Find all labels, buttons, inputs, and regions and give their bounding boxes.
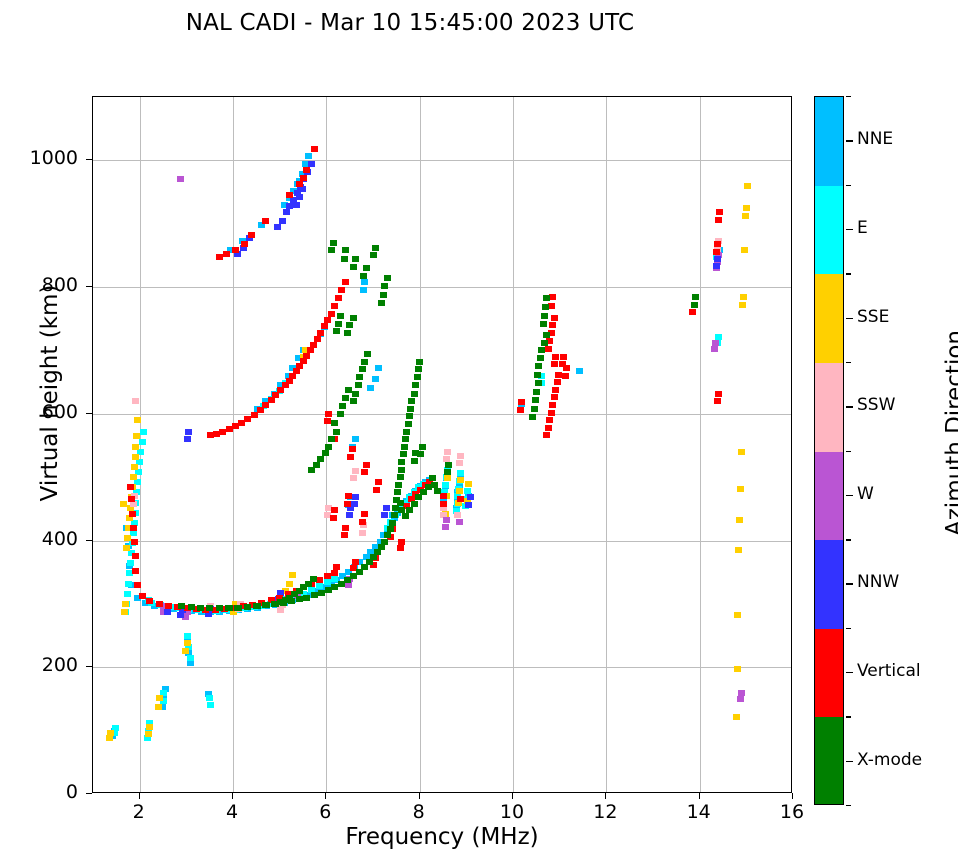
colorbar-tick	[846, 583, 853, 584]
data-point	[397, 474, 404, 480]
data-point	[308, 467, 315, 473]
data-point	[534, 372, 541, 378]
data-point	[560, 354, 567, 360]
data-point	[691, 302, 698, 308]
data-point	[395, 482, 402, 488]
y-axis-tick	[86, 159, 92, 160]
data-point	[531, 406, 538, 412]
data-point	[322, 450, 329, 456]
data-point	[414, 374, 421, 380]
y-axis-tick	[86, 793, 92, 794]
colorbar-tick	[846, 229, 853, 230]
x-axis-tick	[232, 793, 233, 799]
data-point	[381, 283, 388, 289]
data-point	[541, 340, 548, 346]
data-point	[406, 413, 413, 419]
data-point	[529, 414, 536, 420]
data-point	[739, 302, 746, 308]
x-axis-tick	[325, 793, 326, 799]
data-point	[401, 444, 408, 450]
data-point	[546, 417, 553, 423]
data-point	[406, 507, 413, 513]
data-point	[411, 501, 418, 507]
data-point	[338, 581, 345, 587]
data-point	[324, 573, 331, 579]
data-point	[274, 224, 281, 230]
data-point	[360, 273, 367, 279]
data-point	[457, 477, 464, 483]
data-point	[389, 520, 396, 526]
data-point	[535, 363, 542, 369]
colorbar-boundary-tick	[846, 539, 851, 540]
data-point	[122, 601, 129, 607]
data-point	[316, 583, 323, 589]
data-point	[743, 205, 750, 211]
data-point	[562, 373, 569, 379]
data-point	[178, 603, 185, 609]
colorbar-boundary-tick	[846, 805, 851, 806]
data-point	[262, 218, 269, 224]
data-point	[402, 436, 409, 442]
colorbar-boundary-tick	[846, 628, 851, 629]
data-point	[712, 340, 719, 346]
data-point	[440, 501, 447, 507]
data-point	[232, 247, 239, 253]
data-point	[711, 346, 718, 352]
data-point	[361, 511, 368, 517]
data-point	[350, 398, 357, 404]
colorbar-segment-w	[815, 452, 843, 541]
data-point	[197, 605, 204, 611]
data-point	[402, 513, 409, 519]
data-point	[351, 501, 358, 507]
data-point	[352, 256, 359, 262]
data-point	[293, 202, 300, 208]
data-point	[331, 584, 338, 590]
data-point	[289, 572, 296, 578]
data-point	[182, 648, 189, 654]
data-point	[352, 391, 359, 397]
data-point	[146, 724, 153, 730]
data-point	[238, 420, 245, 426]
data-point	[541, 313, 548, 319]
x-axis-tick	[792, 793, 793, 799]
data-point	[380, 292, 387, 298]
x-axis-title: Frequency (MHz)	[92, 824, 792, 850]
data-point	[716, 209, 723, 215]
data-point	[216, 254, 223, 260]
data-point	[737, 696, 744, 702]
y-axis-tick	[86, 413, 92, 414]
colorbar-tick	[846, 406, 853, 407]
data-point	[324, 418, 331, 424]
data-point	[207, 432, 214, 438]
data-point	[381, 512, 388, 518]
data-point	[359, 530, 366, 536]
data-point	[363, 462, 370, 468]
data-point	[331, 507, 338, 513]
data-point	[538, 347, 545, 353]
data-point	[429, 475, 436, 481]
data-point	[543, 295, 550, 301]
data-point	[356, 374, 363, 380]
data-point	[398, 507, 405, 513]
data-point	[134, 582, 141, 588]
colorbar-boundary-tick	[846, 362, 851, 363]
data-point	[456, 488, 463, 494]
data-point	[408, 398, 415, 404]
colorbar-tick	[846, 495, 853, 496]
colorbar-label-w: W	[857, 484, 874, 504]
colorbar-segment-vertical	[815, 629, 843, 718]
data-point	[184, 640, 191, 646]
data-point	[552, 354, 559, 360]
data-point	[341, 256, 348, 262]
data-point	[342, 247, 349, 253]
colorbar-title: Azimuth Direction	[942, 268, 958, 598]
data-point	[344, 577, 351, 583]
data-point	[225, 605, 232, 611]
data-point	[127, 484, 134, 490]
data-point	[333, 564, 340, 570]
data-point	[342, 525, 349, 531]
data-point	[713, 249, 720, 255]
data-point	[394, 489, 401, 495]
data-point	[325, 587, 332, 593]
data-point	[387, 526, 394, 532]
data-point	[185, 429, 192, 435]
data-point	[403, 429, 410, 435]
data-point	[128, 496, 135, 502]
data-point	[244, 416, 251, 422]
data-point	[355, 382, 362, 388]
data-point	[457, 496, 464, 502]
plot-area	[92, 96, 792, 793]
data-point	[405, 421, 412, 427]
data-point	[350, 573, 357, 579]
data-point	[346, 512, 353, 518]
data-point	[391, 512, 398, 518]
data-point	[549, 402, 556, 408]
data-point	[133, 433, 140, 439]
data-point	[398, 467, 405, 473]
data-point	[123, 545, 130, 551]
data-point	[715, 391, 722, 397]
data-point	[232, 423, 239, 429]
data-point	[540, 321, 547, 327]
data-point	[206, 695, 213, 701]
data-point	[335, 295, 342, 301]
data-point	[713, 263, 720, 269]
x-axis-tick-label: 8	[389, 801, 449, 823]
data-point	[350, 264, 357, 270]
data-point	[303, 167, 310, 173]
data-point	[741, 247, 748, 253]
data-point	[419, 444, 426, 450]
data-point	[300, 175, 307, 181]
colorbar-segment-nne	[815, 97, 843, 186]
data-point	[445, 462, 452, 468]
data-point	[738, 690, 745, 696]
data-point	[303, 595, 310, 601]
data-point	[545, 425, 552, 431]
data-point	[129, 511, 136, 517]
data-point	[316, 577, 323, 583]
data-point	[184, 633, 191, 639]
colorbar-label-sse: SSE	[857, 307, 889, 327]
data-point	[364, 351, 371, 357]
colorbar-boundary-tick	[846, 185, 851, 186]
data-point	[127, 560, 134, 566]
data-point	[363, 265, 370, 271]
data-point	[352, 436, 359, 442]
data-point	[551, 361, 558, 367]
data-point	[456, 519, 463, 525]
colorbar-boundary-tick	[846, 451, 851, 452]
data-point	[715, 217, 722, 223]
data-point	[398, 459, 405, 465]
data-point	[308, 161, 315, 167]
x-axis-tick-label: 4	[202, 801, 262, 823]
data-point	[457, 453, 464, 459]
colorbar-segment-e	[815, 186, 843, 275]
data-point	[132, 454, 139, 460]
data-point	[188, 604, 195, 610]
data-point	[131, 539, 138, 545]
data-point	[296, 181, 303, 187]
y-axis-tick-label: 0	[8, 781, 78, 803]
data-point	[737, 486, 744, 492]
data-point	[367, 385, 374, 391]
data-point	[241, 241, 248, 247]
data-point	[352, 468, 359, 474]
data-point	[443, 517, 450, 523]
data-point	[131, 464, 138, 470]
data-point	[330, 515, 337, 521]
data-point	[417, 451, 424, 457]
data-point	[335, 321, 342, 327]
data-point	[734, 612, 741, 618]
data-point	[244, 604, 251, 610]
data-point	[318, 590, 325, 596]
data-point	[375, 479, 382, 485]
data-point	[714, 241, 721, 247]
data-point	[456, 460, 463, 466]
data-point	[465, 502, 472, 508]
data-point	[125, 581, 132, 587]
data-point	[533, 389, 540, 395]
data-point	[206, 605, 213, 611]
data-point	[383, 505, 390, 511]
data-point	[742, 213, 749, 219]
colorbar-tick	[846, 672, 853, 673]
data-point	[378, 300, 385, 306]
data-point	[331, 570, 338, 576]
data-point	[132, 568, 139, 574]
data-point	[359, 519, 366, 525]
data-point	[311, 592, 318, 598]
data-points-layer	[93, 97, 791, 792]
data-point	[517, 407, 524, 413]
data-point	[440, 493, 447, 499]
data-point	[328, 247, 335, 253]
data-point	[563, 365, 570, 371]
data-point	[337, 411, 344, 417]
data-point	[344, 330, 351, 336]
data-point	[262, 602, 269, 608]
data-point	[330, 240, 337, 246]
data-point	[325, 444, 332, 450]
data-point	[454, 512, 461, 518]
data-point	[345, 387, 352, 393]
data-point	[121, 609, 128, 615]
data-point	[551, 394, 558, 400]
x-axis-tick	[699, 793, 700, 799]
data-point	[213, 431, 220, 437]
x-axis-tick-label: 10	[482, 801, 542, 823]
data-point	[733, 714, 740, 720]
data-point	[286, 581, 293, 587]
data-point	[537, 355, 544, 361]
data-point	[317, 330, 324, 336]
data-point	[328, 311, 335, 317]
colorbar-tick	[846, 761, 853, 762]
data-point	[465, 481, 472, 487]
data-point	[352, 559, 359, 565]
data-point	[155, 704, 162, 710]
data-point	[352, 494, 359, 500]
data-point	[444, 449, 451, 455]
data-point	[251, 412, 258, 418]
y-axis-tick	[86, 540, 92, 541]
data-point	[145, 731, 152, 737]
data-point	[253, 603, 260, 609]
data-point	[106, 735, 113, 741]
y-axis-tick	[86, 286, 92, 287]
data-point	[361, 469, 368, 475]
data-point	[467, 494, 474, 500]
data-point	[132, 444, 139, 450]
data-point	[156, 695, 163, 701]
colorbar-boundary-tick	[846, 273, 851, 274]
data-point	[347, 454, 354, 460]
data-point	[234, 605, 241, 611]
data-point	[398, 539, 405, 545]
data-point	[177, 612, 184, 618]
data-point	[344, 501, 351, 507]
data-point	[738, 449, 745, 455]
colorbar-label-nne: NNE	[857, 129, 893, 149]
data-point	[139, 593, 146, 599]
data-point	[552, 387, 559, 393]
data-point	[177, 176, 184, 182]
x-axis-tick-label: 14	[669, 801, 729, 823]
colorbar-segment-x-mode	[815, 717, 843, 805]
data-point	[338, 287, 345, 293]
data-point	[350, 315, 357, 321]
data-point	[248, 232, 255, 238]
data-point	[331, 303, 338, 309]
data-point	[132, 553, 139, 559]
data-point	[314, 336, 321, 342]
data-point	[120, 501, 127, 507]
data-point	[207, 702, 214, 708]
data-point	[549, 294, 556, 300]
data-point	[345, 493, 352, 499]
data-point	[689, 309, 696, 315]
colorbar-tick	[846, 140, 853, 141]
data-point	[279, 218, 286, 224]
data-point	[146, 598, 153, 604]
data-point	[532, 397, 539, 403]
colorbar-boundary-tick	[846, 96, 851, 97]
data-point	[350, 475, 357, 481]
data-point	[342, 279, 349, 285]
data-point	[549, 322, 556, 328]
data-point	[444, 469, 451, 475]
data-point	[518, 399, 525, 405]
data-point	[411, 458, 418, 464]
data-point	[542, 304, 549, 310]
data-point	[444, 475, 451, 481]
data-point	[216, 605, 223, 611]
data-point	[130, 474, 137, 480]
data-point	[543, 332, 550, 338]
data-point	[296, 194, 303, 200]
data-point	[734, 666, 741, 672]
y-axis-tick-label: 1000	[8, 147, 78, 169]
y-axis-tick	[86, 666, 92, 667]
data-point	[373, 487, 380, 493]
x-axis-tick-label: 6	[295, 801, 355, 823]
data-point	[464, 488, 471, 494]
data-point	[324, 317, 331, 323]
data-point	[576, 368, 583, 374]
data-point	[333, 429, 340, 435]
data-point	[361, 279, 368, 285]
data-point	[442, 524, 449, 530]
data-point	[397, 545, 404, 551]
data-point	[140, 429, 147, 435]
data-point	[286, 192, 293, 198]
data-point	[257, 407, 264, 413]
data-point	[375, 365, 382, 371]
data-point	[124, 591, 131, 597]
data-point	[714, 256, 721, 262]
data-point	[442, 482, 449, 488]
data-point	[714, 398, 721, 404]
data-point	[283, 209, 290, 215]
colorbar-segment-ssw	[815, 363, 843, 452]
data-point	[412, 382, 419, 388]
data-point	[744, 183, 751, 189]
data-point	[554, 379, 561, 385]
data-point	[457, 470, 464, 476]
data-point	[360, 287, 367, 293]
data-point	[359, 366, 366, 372]
x-axis-tick-label: 16	[762, 801, 822, 823]
data-point	[226, 426, 233, 432]
colorbar-label-vertical: Vertical	[857, 661, 921, 681]
colorbar-segment-nnw	[815, 540, 843, 629]
x-axis-tick	[605, 793, 606, 799]
data-point	[548, 410, 555, 416]
x-axis-tick	[419, 793, 420, 799]
data-point	[736, 517, 743, 523]
data-point	[271, 601, 278, 607]
data-point	[397, 500, 404, 506]
data-point	[545, 346, 552, 352]
